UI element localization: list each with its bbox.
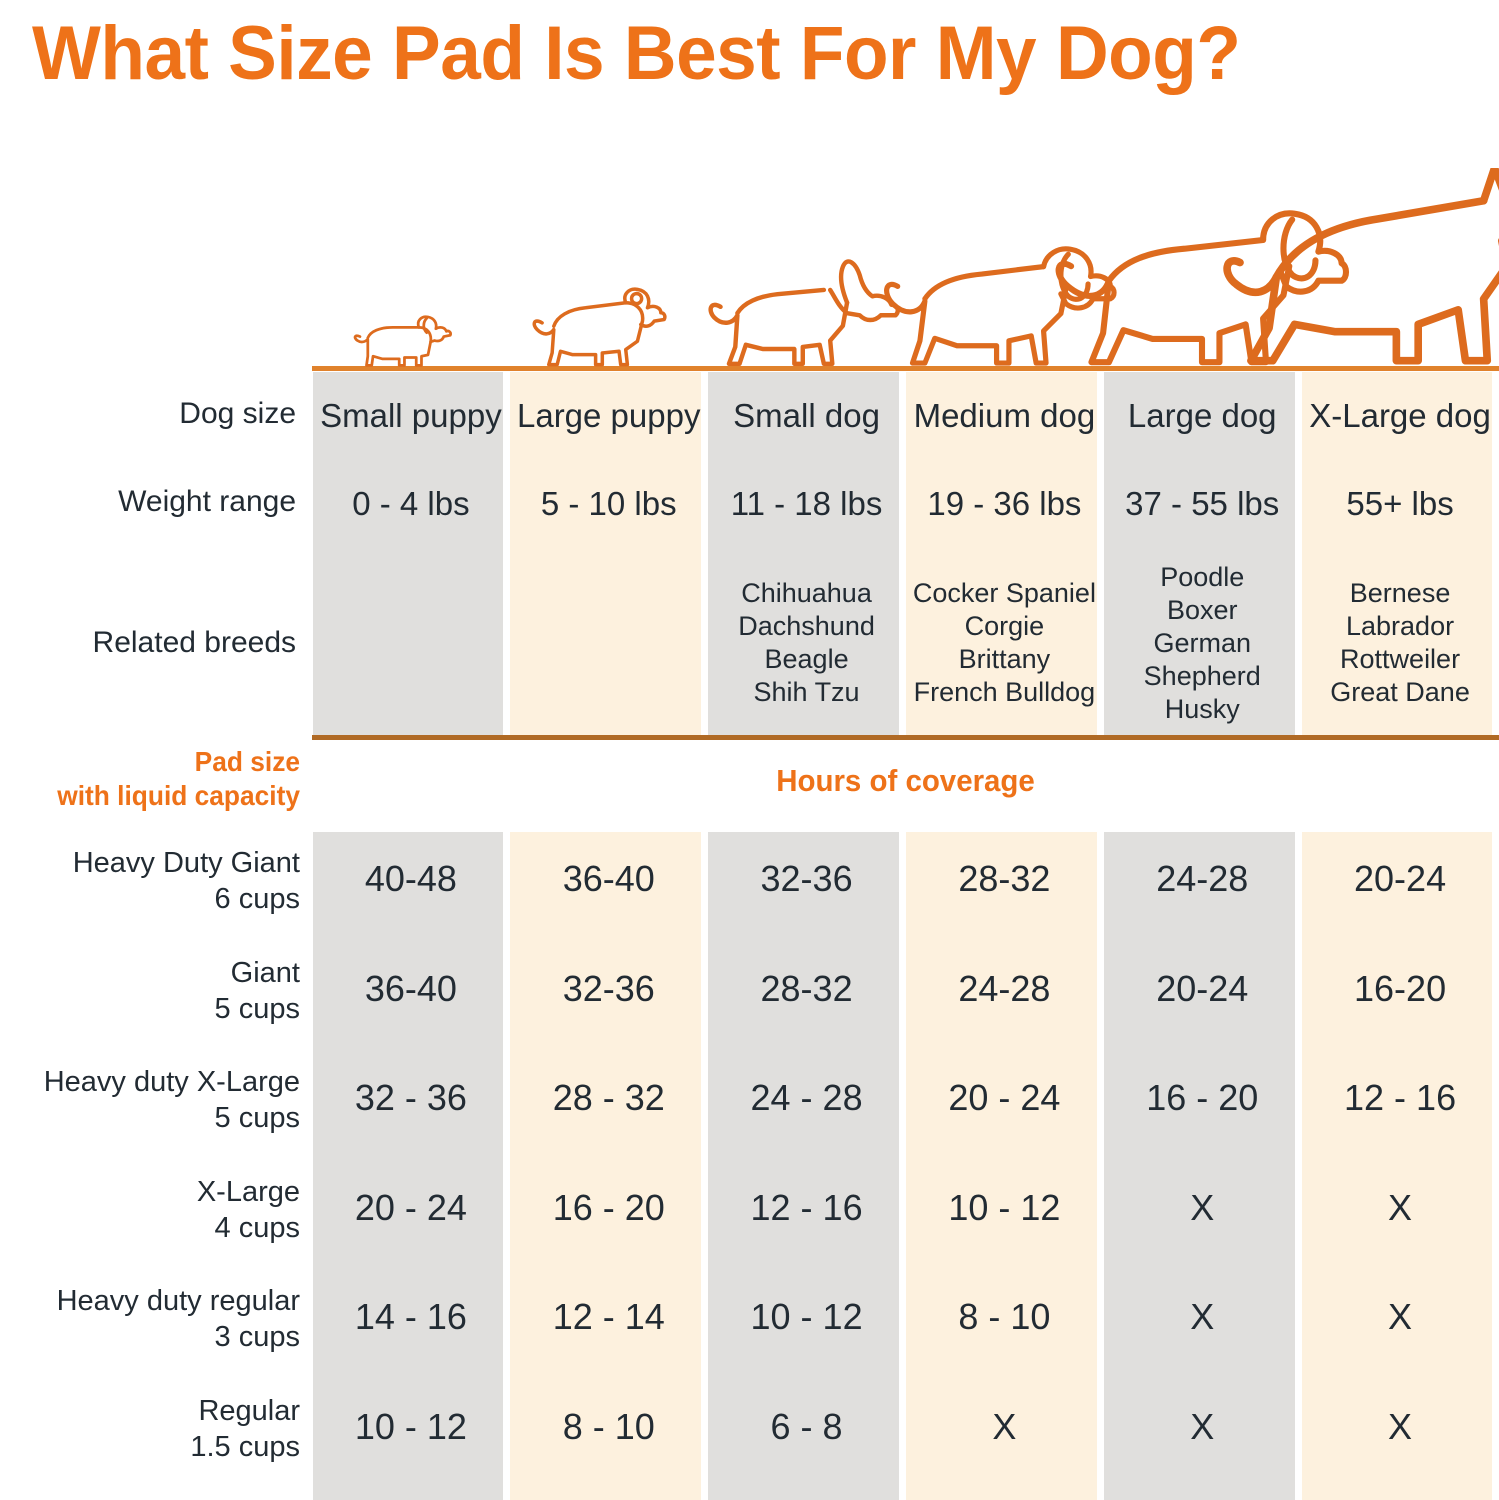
breed-item: Husky [1103,693,1301,726]
pad-row-capacity: 5 cups [0,991,300,1027]
breed-item: Shih Tzu [708,676,906,709]
coverage-cell-r2-c1: 36-40 [312,967,510,1011]
weight-range-value-6: 55+ lbs [1301,484,1499,524]
pad-size-header: Pad size with liquid capacity [18,745,300,813]
coverage-cell-r5-c5: X [1103,1295,1301,1339]
xlarge-dog-icon [1210,168,1499,368]
coverage-cell-r2-c2: 32-36 [510,967,708,1011]
pad-size-header-line2: with liquid capacity [18,779,300,813]
column-strip-6 [1302,832,1493,1500]
coverage-cell-r5-c2: 12 - 14 [510,1295,708,1339]
coverage-cell-r4-c5: X [1103,1186,1301,1230]
coverage-cell-r4-c2: 16 - 20 [510,1186,708,1230]
coverage-cell-r5-c6: X [1301,1295,1499,1339]
dog-cell-6 [1301,150,1499,368]
weight-range-value-2: 5 - 10 lbs [510,484,708,524]
breed-item: Great Dane [1301,676,1499,709]
breed-item: Dachshund [708,610,906,643]
pad-row-label-4: X-Large4 cups [0,1174,300,1246]
coverage-cell-r1-c2: 36-40 [510,857,708,901]
dog-cell-2 [510,150,708,368]
coverage-cell-r2-c6: 16-20 [1301,967,1499,1011]
coverage-cell-r1-c3: 32-36 [708,857,906,901]
dog-silhouette-row [312,150,1499,368]
coverage-cell-r1-c1: 40-48 [312,857,510,901]
coverage-cell-r3-c5: 16 - 20 [1103,1076,1301,1120]
breed-item: Labrador [1301,610,1499,643]
coverage-cell-r2-c3: 28-32 [708,967,906,1011]
pad-row-name: Heavy Duty Giant [0,845,300,881]
pad-row-capacity: 4 cups [0,1210,300,1246]
coverage-cell-r3-c1: 32 - 36 [312,1076,510,1120]
pad-row-label-2: Giant5 cups [0,955,300,1027]
breed-item: Chihuahua [708,577,906,610]
coverage-cell-r2-c4: 24-28 [906,967,1104,1011]
breed-item: Cocker Spaniel [906,577,1104,610]
coverage-cell-r4-c4: 10 - 12 [906,1186,1104,1230]
breed-item: Bernese [1301,577,1499,610]
weight-range-value-4: 19 - 36 lbs [906,484,1104,524]
coverage-cell-r1-c5: 24-28 [1103,857,1301,901]
column-strip-5 [1104,832,1295,1500]
dog-size-value-6: X-Large dog [1301,396,1499,436]
small-puppy-icon [342,296,479,368]
breed-item: Boxer [1103,594,1301,627]
pad-row-capacity: 3 cups [0,1319,300,1355]
coverage-cell-r6-c2: 8 - 10 [510,1405,708,1449]
coverage-cell-r3-c6: 12 - 16 [1301,1076,1499,1120]
breeds-list-6: BerneseLabradorRottweilerGreat Dane [1301,577,1499,709]
page-title: What Size Pad Is Best For My Dog? [32,4,1414,104]
breed-item: German [1103,627,1301,660]
coverage-cell-r5-c4: 8 - 10 [906,1295,1104,1339]
breed-item: Beagle [708,643,906,676]
weight-range-value-5: 37 - 55 lbs [1103,484,1301,524]
pad-row-name: Regular [0,1393,300,1429]
breed-item: French Bulldog [906,676,1104,709]
row-label-weight-range: Weight range [0,484,296,520]
pad-row-label-5: Heavy duty regular3 cups [0,1283,300,1355]
breed-item: Rottweiler [1301,643,1499,676]
weight-range-value-3: 11 - 18 lbs [708,484,906,524]
pad-row-label-3: Heavy duty X-Large5 cups [0,1064,300,1136]
row-label-dog-size: Dog size [0,396,296,432]
pad-row-label-1: Heavy Duty Giant6 cups [0,845,300,917]
coverage-cell-r6-c4: X [906,1405,1104,1449]
coverage-cell-r4-c3: 12 - 16 [708,1186,906,1230]
pad-row-name: Heavy duty regular [0,1283,300,1319]
breed-item: Shepherd [1103,660,1301,693]
dog-size-value-5: Large dog [1103,396,1301,436]
pad-row-name: Giant [0,955,300,991]
coverage-cell-r4-c1: 20 - 24 [312,1186,510,1230]
large-puppy-icon [521,276,696,368]
coverage-cell-r3-c2: 28 - 32 [510,1076,708,1120]
coverage-cell-r2-c5: 20-24 [1103,967,1301,1011]
coverage-cell-r5-c3: 10 - 12 [708,1295,906,1339]
pad-row-capacity: 1.5 cups [0,1429,300,1465]
coverage-cell-r4-c6: X [1301,1186,1499,1230]
coverage-cell-r6-c1: 10 - 12 [312,1405,510,1449]
breed-item: Poodle [1103,561,1301,594]
pad-row-name: Heavy duty X-Large [0,1064,300,1100]
pad-size-header-line1: Pad size [18,745,300,779]
column-strip-1 [313,832,504,1500]
dog-size-value-3: Small dog [708,396,906,436]
pad-row-label-6: Regular1.5 cups [0,1393,300,1465]
breeds-list-3: ChihuahuaDachshundBeagleShih Tzu [708,577,906,709]
weight-range-value-1: 0 - 4 lbs [312,484,510,524]
coverage-cell-r3-c3: 24 - 28 [708,1076,906,1120]
middle-orange-rule [312,735,1499,740]
coverage-cell-r5-c1: 14 - 16 [312,1295,510,1339]
coverage-cell-r3-c4: 20 - 24 [906,1076,1104,1120]
column-strip-3 [708,832,899,1500]
column-strip-4 [906,832,1097,1500]
breed-item: Brittany [906,643,1104,676]
coverage-cell-r6-c6: X [1301,1405,1499,1449]
breeds-list-5: PoodleBoxerGermanShepherdHusky [1103,561,1301,726]
dog-size-value-1: Small puppy [312,396,510,436]
hours-of-coverage-header: Hours of coverage [342,762,1470,800]
coverage-cell-r6-c3: 6 - 8 [708,1405,906,1449]
breeds-list-4: Cocker SpanielCorgieBrittanyFrench Bulld… [906,577,1104,709]
pad-row-capacity: 6 cups [0,881,300,917]
pad-row-capacity: 5 cups [0,1100,300,1136]
coverage-cell-r6-c5: X [1103,1405,1301,1449]
row-label-related-breeds: Related breeds [0,625,296,661]
column-strip-2 [510,832,701,1500]
dog-size-value-2: Large puppy [510,396,708,436]
coverage-cell-r1-c4: 28-32 [906,857,1104,901]
breed-item: Corgie [906,610,1104,643]
coverage-cell-r1-c6: 20-24 [1301,857,1499,901]
dog-size-value-4: Medium dog [906,396,1104,436]
dog-cell-1 [312,150,510,368]
pad-row-name: X-Large [0,1174,300,1210]
